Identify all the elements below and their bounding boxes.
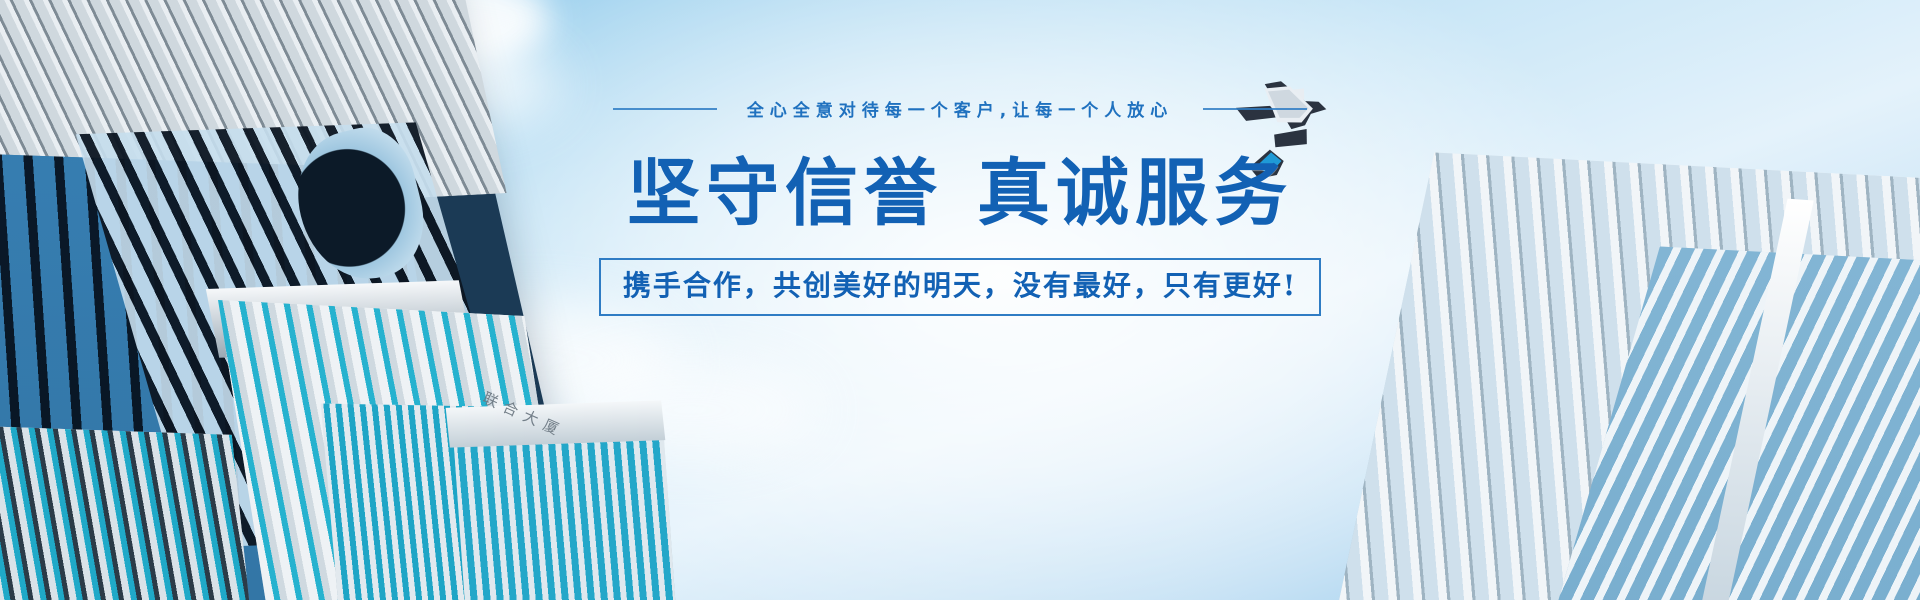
left-rule-icon: [613, 108, 717, 110]
subtitle-box: 携手合作，共创美好的明天，没有最好，只有更好!: [599, 258, 1321, 316]
eyebrow-row: 全心全意对待每一个客户,让每一个人放心: [613, 96, 1307, 121]
headline-part-one: 坚守信誉: [627, 150, 943, 236]
headline-part-two: 真诚服务: [977, 150, 1293, 236]
hero-banner: 联合大厦 全心全意对待每一个客户,让每一个人放心 坚守信誉真诚服务 携手合作，共…: [0, 0, 1920, 600]
eyebrow-text: 全心全意对待每一个客户,让每一个人放心: [747, 96, 1173, 121]
low-rise-teal-block: [0, 426, 251, 600]
page-title: 坚守信誉真诚服务: [627, 157, 1293, 230]
banner-content: 全心全意对待每一个客户,让每一个人放心 坚守信誉真诚服务 携手合作，共创美好的明…: [0, 96, 1920, 316]
right-rule-icon: [1203, 108, 1307, 110]
subtitle-text: 携手合作，共创美好的明天，没有最好，只有更好!: [623, 272, 1297, 300]
